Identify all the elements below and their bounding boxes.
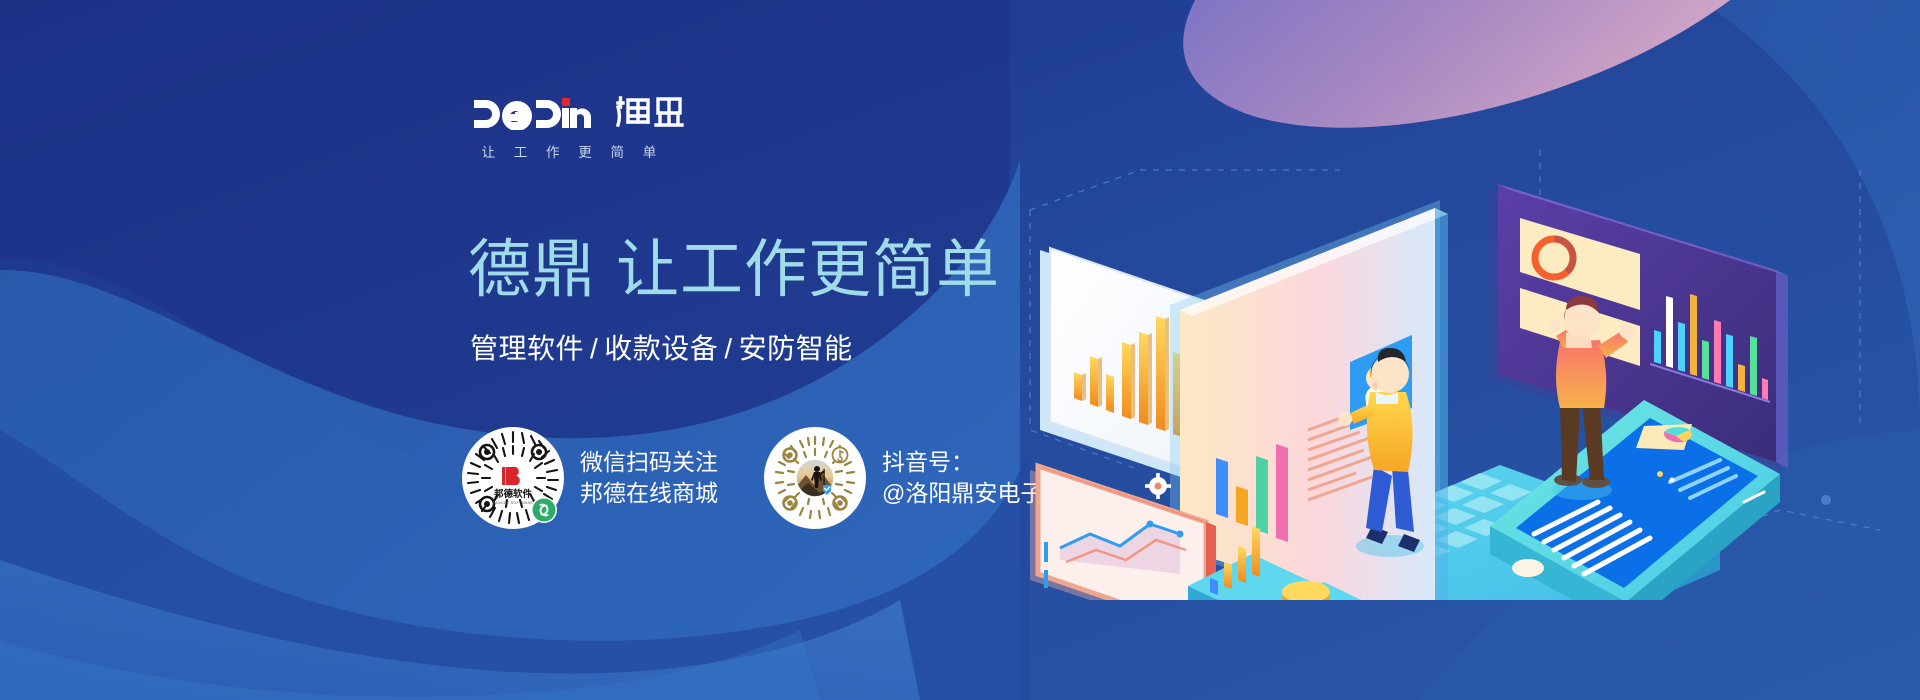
logo-row (474, 86, 704, 130)
subtitle-separator-1: / (718, 333, 738, 364)
wechat-miniprogram-badge-icon (531, 497, 557, 523)
gear-icon (1145, 473, 1171, 499)
phone-home-button (1512, 559, 1544, 577)
qr-code-section: 邦德软件 BANGDE SOFTWARE 微信扫码关注 邦德在线商城 (462, 427, 1043, 529)
phone-dot-white (1670, 478, 1675, 483)
illustration-canvas (1020, 130, 1900, 600)
wechat-caption-line1: 微信扫码关注 (580, 447, 718, 478)
page-title: 德鼎让工作更简单 (468, 237, 1000, 303)
subtitle: 管理软件/收款设备/安防智能 (470, 327, 853, 367)
subtitle-item-0: 管理软件 (470, 333, 584, 364)
wechat-qr-code-icon[interactable]: 邦德软件 BANGDE SOFTWARE (462, 427, 564, 529)
music-note-icon (833, 448, 848, 463)
deding-wordmark-icon (474, 90, 602, 130)
phone-dot-yellow (1657, 471, 1663, 477)
wechat-qr-caption: 微信扫码关注 邦德在线商城 (580, 447, 718, 509)
brand-logo[interactable]: 让 工 作 更 简 单 (474, 86, 704, 161)
promo-banner: 让 工 作 更 简 单 德鼎让工作更简单 管理软件/收款设备/安防智能 (0, 0, 1920, 700)
headline-brand: 德鼎 (468, 235, 596, 305)
svg-text:BANGDE SOFTWARE: BANGDE SOFTWARE (493, 501, 534, 505)
logo-tagline: 让 工 作 更 简 单 (474, 141, 646, 161)
deding-chinese-mark-icon (614, 94, 692, 130)
qr-item-wechat[interactable]: 邦德软件 BANGDE SOFTWARE 微信扫码关注 邦德在线商城 (462, 427, 718, 529)
douyin-qr-code-icon[interactable] (764, 427, 866, 529)
phone-pie-chart (1636, 424, 1692, 450)
subtitle-separator-0: / (584, 333, 604, 364)
logo-dot-icon (562, 98, 570, 106)
svg-text:邦德软件: 邦德软件 (494, 488, 533, 500)
wechat-caption-line2: 邦德在线商城 (580, 478, 718, 509)
qr-item-douyin[interactable]: 抖音号： @洛阳鼎安电子 (764, 427, 1043, 529)
isometric-illustration (1020, 130, 1900, 600)
subtitle-item-1: 收款设备 (604, 333, 718, 364)
subtitle-item-2: 安防智能 (739, 333, 853, 364)
headline-slogan: 让工作更简单 (616, 235, 1000, 305)
